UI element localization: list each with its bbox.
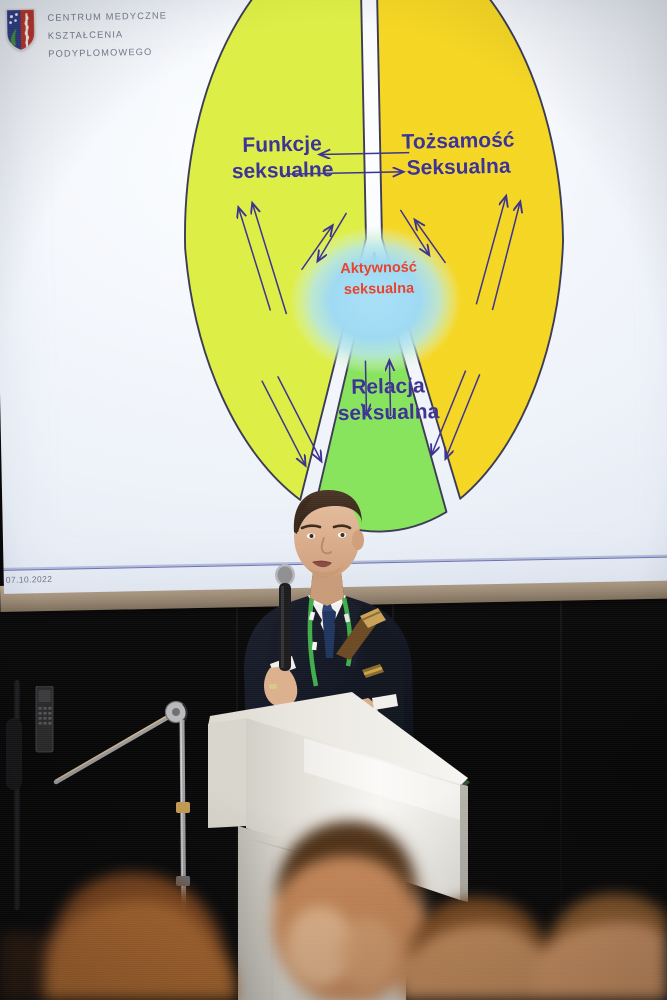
photograph: CENTRUM MEDYCZNE KSZTAŁCENIA PODYPLOMOWE… — [0, 0, 667, 1000]
audience-foreground-heads — [0, 806, 667, 1000]
logo-line-1: CENTRUM MEDYCZNE — [47, 6, 167, 27]
slide-date: 07.10.2022 — [6, 574, 53, 585]
segment-label-tozsamosc: Tożsamość Seksualna — [373, 127, 544, 182]
cmkp-logo-text: CENTRUM MEDYCZNE KSZTAŁCENIA PODYPLOMOWE… — [47, 4, 168, 63]
logo-line-3: PODYPLOMOWEGO — [48, 43, 168, 64]
logo-line-2: KSZTAŁCENIA — [48, 25, 168, 46]
cmkp-shield-icon — [4, 7, 37, 52]
gavel — [330, 606, 390, 660]
cmkp-logo: CENTRUM MEDYCZNE KSZTAŁCENIA PODYPLOMOWE… — [4, 4, 168, 64]
diagram-center-label: Aktywność seksualna — [303, 257, 454, 302]
segment-label-funkcje: Funkcje seksualne — [207, 131, 358, 185]
segment-label-relacja: Relacja seksualna — [298, 372, 479, 427]
wall-handset — [6, 718, 22, 790]
